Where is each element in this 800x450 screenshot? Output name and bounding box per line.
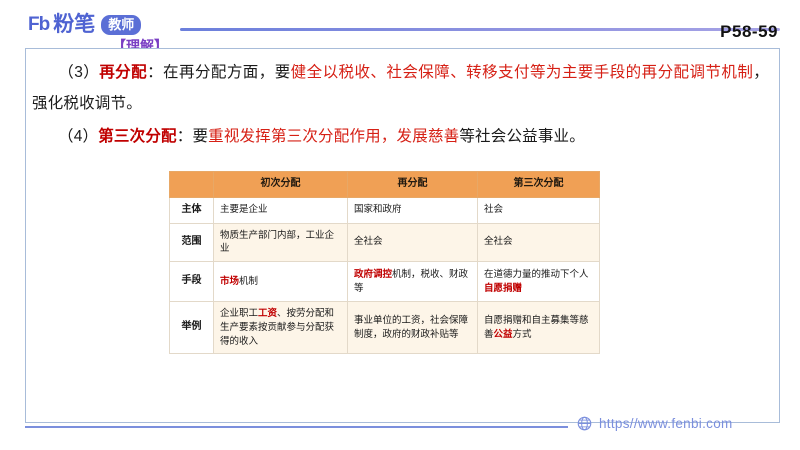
table-row: 举例 企业职工工资、按劳分配和生产要素按贡献参与分配获得的收入 事业单位的工资，… (170, 302, 600, 354)
cell-text: 机制 (239, 276, 258, 287)
header-divider-line (180, 28, 780, 31)
website-url-text: https//www.fenbi.com (599, 416, 733, 431)
cell-text-pre: 企业职工 (220, 308, 258, 319)
cell-emphasis: 市场 (220, 276, 239, 287)
cell-emphasis: 政府调控 (354, 269, 392, 280)
row-label-subject: 主体 (170, 197, 214, 223)
paragraph-3-term: 再分配 (99, 64, 147, 81)
fenbi-logo-mark: Fb (28, 15, 49, 34)
table-header-row: 初次分配 再分配 第三次分配 (170, 172, 600, 198)
cell-text: 物质生产部门内部，工业企业 (220, 230, 334, 255)
table-row: 手段 市场机制 政府调控机制，税收、财政等 在道德力量的推动下个人自愿捐赠 (170, 262, 600, 302)
paragraph-3-number: （3） (58, 64, 99, 81)
table-body: 主体 主要是企业 国家和政府 社会 范围 物质生产部门内部，工业企业 全社会 全… (170, 197, 600, 354)
paragraph-3-highlight: 健全以税收、社会保障、转移支付等为主要手段的再分配调节机制 (291, 64, 754, 81)
cell-text: 事业单位的工资，社会保障制度，政府的财政补贴等 (354, 315, 468, 340)
fenbi-logo-word: 粉笔 (53, 14, 95, 35)
paragraph-4-highlight: 重视发挥第三次分配作用，发展慈善 (208, 128, 459, 145)
distribution-comparison-table-wrap: 初次分配 再分配 第三次分配 主体 主要是企业 国家和政府 社会 范围 物质生产 (169, 171, 599, 354)
website-link[interactable]: https//www.fenbi.com (577, 416, 733, 431)
cell-text: 主要是企业 (220, 204, 268, 215)
cell-subject-third: 社会 (478, 197, 600, 223)
paragraph-4-colon: ： (177, 128, 193, 145)
cell-text: 国家和政府 (354, 204, 402, 215)
cell-emphasis: 自愿捐赠 (484, 283, 522, 294)
cell-subject-redistribution: 国家和政府 (348, 197, 478, 223)
page-number-label: P58-59 (720, 22, 778, 42)
cell-text: 社会 (484, 204, 503, 215)
row-label-scope: 范围 (170, 223, 214, 262)
slide-footer: https//www.fenbi.com (25, 416, 780, 436)
fenbi-logo: Fb 粉笔 教师 (28, 14, 141, 35)
cell-text-pre: 在道德力量的推动下个人 (484, 269, 589, 280)
cell-subject-primary: 主要是企业 (214, 197, 348, 223)
footer-divider-line (25, 426, 568, 428)
cell-text: 全社会 (354, 236, 383, 247)
cell-means-primary: 市场机制 (214, 262, 348, 302)
cell-emphasis: 工资 (258, 308, 277, 319)
table-row: 范围 物质生产部门内部，工业企业 全社会 全社会 (170, 223, 600, 262)
cell-scope-third: 全社会 (478, 223, 600, 262)
table-header: 初次分配 再分配 第三次分配 (170, 172, 600, 198)
table-header-third-distribution: 第三次分配 (478, 172, 600, 198)
paragraph-4-number: （4） (58, 128, 98, 145)
row-label-means: 手段 (170, 262, 214, 302)
table-header-redistribution: 再分配 (348, 172, 478, 198)
paragraph-4-lead: 要 (192, 128, 208, 145)
row-label-examples: 举例 (170, 302, 214, 354)
globe-icon (577, 416, 592, 431)
teacher-badge: 教师 (101, 15, 141, 35)
table-row: 主体 主要是企业 国家和政府 社会 (170, 197, 600, 223)
cell-examples-redistribution: 事业单位的工资，社会保障制度，政府的财政补贴等 (348, 302, 478, 354)
cell-means-third: 在道德力量的推动下个人自愿捐赠 (478, 262, 600, 302)
cell-text: 全社会 (484, 236, 513, 247)
distribution-comparison-table: 初次分配 再分配 第三次分配 主体 主要是企业 国家和政府 社会 范围 物质生产 (169, 171, 600, 354)
content-frame: （3）再分配：在再分配方面，要健全以税收、社会保障、转移支付等为主要手段的再分配… (25, 48, 780, 423)
cell-emphasis: 公益 (494, 329, 513, 340)
paragraph-3-colon: ： (147, 64, 163, 81)
cell-scope-primary: 物质生产部门内部，工业企业 (214, 223, 348, 262)
paragraph-4: （4）第三次分配：要重视发挥第三次分配作用，发展慈善等社会公益事业。 (32, 121, 769, 152)
table-header-corner (170, 172, 214, 198)
cell-examples-primary: 企业职工工资、按劳分配和生产要素按贡献参与分配获得的收入 (214, 302, 348, 354)
paragraph-4-term: 第三次分配 (98, 128, 177, 145)
cell-means-redistribution: 政府调控机制，税收、财政等 (348, 262, 478, 302)
paragraph-3: （3）再分配：在再分配方面，要健全以税收、社会保障、转移支付等为主要手段的再分配… (32, 57, 769, 119)
cell-text: 方式 (513, 329, 532, 340)
paragraph-4-tail: 等社会公益事业。 (459, 128, 585, 145)
paragraph-3-lead: 在再分配方面，要 (163, 64, 291, 81)
cell-scope-redistribution: 全社会 (348, 223, 478, 262)
slide-root: Fb 粉笔 教师 P58-59 【理解】 （3）再分配：在再分配方面，要健全以税… (0, 0, 800, 450)
cell-examples-third: 自愿捐赠和自主募集等慈善公益方式 (478, 302, 600, 354)
table-header-primary-distribution: 初次分配 (214, 172, 348, 198)
